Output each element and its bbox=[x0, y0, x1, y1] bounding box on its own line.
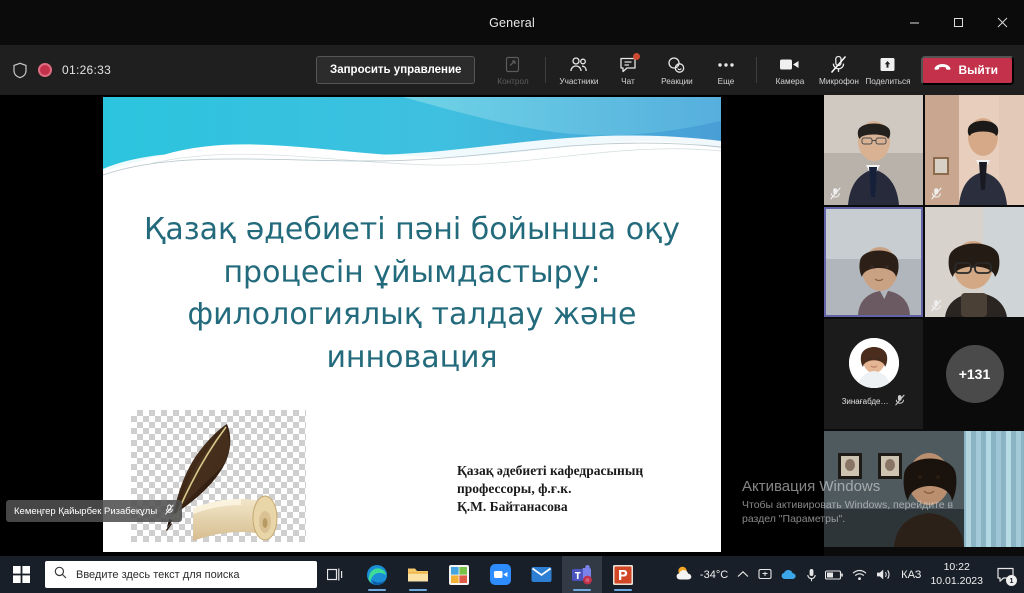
leave-label: Выйти bbox=[958, 63, 998, 77]
mic-muted-icon bbox=[929, 186, 944, 201]
language-indicator[interactable]: КАЗ bbox=[901, 569, 921, 581]
participant-row-3: Зинағабде… +131 bbox=[824, 319, 1024, 429]
start-button[interactable] bbox=[0, 556, 42, 593]
toolbar-device-actions: Камера Микрофон Поделиться Выйти bbox=[749, 52, 1024, 89]
quill-and-scroll-image bbox=[131, 410, 306, 542]
participant-tile-wide[interactable] bbox=[824, 431, 1024, 547]
participant-rail: Зинағабде… +131 bbox=[824, 95, 1024, 556]
onedrive-sync-icon[interactable] bbox=[758, 568, 772, 581]
reactions-icon bbox=[667, 55, 686, 75]
microphone-muted-icon bbox=[165, 504, 174, 518]
meeting-toolbar: 01:26:33 Запросить управление Контрол Уч… bbox=[0, 45, 1024, 95]
cloud-icon[interactable] bbox=[781, 569, 798, 580]
author-line-2: профессоры, ф.ғ.к. bbox=[457, 480, 697, 498]
people-icon bbox=[569, 55, 589, 75]
share-screen-icon bbox=[879, 55, 896, 75]
more-icon bbox=[716, 55, 736, 75]
system-tray: -34°C КАЗ bbox=[675, 556, 1024, 593]
task-view-icon bbox=[327, 567, 344, 582]
toolbar-divider-right bbox=[756, 57, 757, 83]
toolbar-main-actions: Контрол Участники Чат Реакц bbox=[489, 52, 749, 89]
mic-muted-icon bbox=[929, 298, 944, 313]
file-explorer-taskbar-icon[interactable] bbox=[398, 556, 438, 593]
mail-taskbar-icon[interactable] bbox=[521, 556, 561, 593]
microphone-label: Микрофон bbox=[819, 77, 859, 86]
maximize-button[interactable] bbox=[936, 0, 980, 45]
recording-indicator-icon bbox=[38, 63, 52, 77]
reactions-button[interactable]: Реакции bbox=[653, 52, 700, 89]
participant-tile[interactable] bbox=[925, 207, 1024, 317]
toolbar-divider bbox=[545, 57, 546, 83]
chat-button[interactable]: Чат bbox=[604, 52, 651, 89]
chat-unread-badge bbox=[633, 53, 640, 60]
weather-icon bbox=[675, 565, 695, 585]
search-icon bbox=[54, 566, 67, 584]
meeting-timer: 01:26:33 bbox=[62, 63, 111, 77]
teams-taskbar-icon[interactable] bbox=[562, 556, 602, 593]
edge-taskbar-icon[interactable] bbox=[357, 556, 397, 593]
request-control-button[interactable]: Запросить управление bbox=[316, 56, 475, 84]
microphone-muted-icon bbox=[830, 55, 847, 75]
minimize-button[interactable] bbox=[892, 0, 936, 45]
clock-date: 10.01.2023 bbox=[930, 575, 983, 588]
window-title: General bbox=[489, 16, 535, 30]
reactions-label: Реакции bbox=[661, 77, 693, 86]
task-view-button[interactable] bbox=[317, 556, 353, 593]
windows-logo-icon bbox=[13, 566, 30, 583]
overflow-count-badge: +131 bbox=[946, 345, 1004, 403]
author-line-3: Қ.М. Байтанасова bbox=[457, 498, 697, 516]
battery-icon[interactable] bbox=[825, 570, 843, 580]
window-title-bar: General bbox=[0, 0, 1024, 45]
camera-label: Камера bbox=[776, 77, 805, 86]
clock-time: 10:22 bbox=[930, 561, 983, 574]
notification-count-badge: 1 bbox=[1006, 575, 1017, 586]
mic-muted-icon bbox=[828, 186, 843, 201]
presenter-name-chip: Кемеңгер Қайырбек Ризабекұлы bbox=[6, 500, 182, 522]
zoom-taskbar-icon[interactable] bbox=[480, 556, 520, 593]
participant-video-feed bbox=[824, 431, 1024, 547]
slide-banner-wave-decoration bbox=[103, 97, 721, 209]
more-label: Еще bbox=[718, 77, 735, 86]
participant-video-feed bbox=[824, 207, 923, 317]
meeting-status-group: 01:26:33 bbox=[0, 62, 316, 79]
microphone-button[interactable]: Микрофон bbox=[815, 52, 862, 89]
volume-icon[interactable] bbox=[876, 568, 892, 581]
weather-widget[interactable]: -34°C bbox=[675, 565, 728, 585]
mic-muted-icon bbox=[895, 393, 905, 411]
give-control-icon bbox=[504, 55, 521, 75]
share-screen-button[interactable]: Поделиться bbox=[864, 52, 911, 89]
presentation-slide: Қазақ әдебиеті пәні бойынша оқу процесін… bbox=[103, 97, 721, 552]
hangup-icon bbox=[934, 63, 951, 77]
shared-content-stage[interactable]: Қазақ әдебиеті пәні бойынша оқу процесін… bbox=[0, 95, 824, 556]
powerpoint-taskbar-icon[interactable] bbox=[603, 556, 643, 593]
participants-label: Участники bbox=[559, 77, 598, 86]
windows-taskbar: Введите здесь текст для поиска bbox=[0, 556, 1024, 593]
wifi-icon[interactable] bbox=[852, 569, 867, 581]
presenter-name-label: Кемеңгер Қайырбек Ризабекұлы bbox=[14, 506, 157, 517]
participant-row-1 bbox=[824, 95, 1024, 205]
slide-title: Қазақ әдебиеті пәні бойынша оқу процесін… bbox=[131, 209, 693, 379]
microphone-tray-icon[interactable] bbox=[807, 568, 816, 582]
participant-name-label: Зинағабде… bbox=[842, 397, 889, 406]
share-screen-label: Поделиться bbox=[865, 77, 910, 86]
shield-icon bbox=[12, 62, 28, 79]
author-line-1: Қазақ әдебиеті кафедрасының bbox=[457, 462, 697, 480]
avatar-name-row: Зинағабде… bbox=[842, 393, 906, 411]
show-hidden-icons-button[interactable] bbox=[737, 570, 749, 579]
teams-meeting-window: General 01:26:33 Запросить управление bbox=[0, 0, 1024, 593]
taskbar-search-box[interactable]: Введите здесь текст для поиска bbox=[45, 561, 317, 588]
weather-temperature: -34°C bbox=[700, 569, 728, 581]
overflow-participants-tile[interactable]: +131 bbox=[925, 319, 1024, 429]
microsoft-store-taskbar-icon[interactable] bbox=[439, 556, 479, 593]
quill-scroll-illustration bbox=[131, 410, 306, 542]
clock[interactable]: 10:22 10.01.2023 bbox=[930, 561, 983, 588]
window-controls bbox=[892, 0, 1024, 45]
search-placeholder: Введите здесь текст для поиска bbox=[76, 569, 240, 581]
notification-center-button[interactable]: 1 bbox=[992, 556, 1018, 593]
more-options-button[interactable]: Еще bbox=[702, 52, 749, 89]
participant-tile-active-speaker[interactable] bbox=[824, 207, 923, 317]
taskbar-app-buttons bbox=[357, 556, 643, 593]
leave-meeting-button[interactable]: Выйти bbox=[921, 56, 1014, 85]
chat-label: Чат bbox=[621, 77, 635, 86]
camera-icon bbox=[779, 55, 800, 75]
close-button[interactable] bbox=[980, 0, 1024, 45]
give-control-label: Контрол bbox=[497, 77, 528, 86]
avatar bbox=[849, 338, 899, 388]
participant-tile-avatar[interactable]: Зинағабде… bbox=[824, 319, 923, 429]
participant-tile[interactable] bbox=[925, 95, 1024, 205]
give-control-button[interactable]: Контрол bbox=[489, 52, 536, 89]
participant-row-2 bbox=[824, 207, 1024, 317]
participant-tile[interactable] bbox=[824, 95, 923, 205]
slide-author-block: Қазақ әдебиеті кафедрасының профессоры, … bbox=[457, 462, 697, 516]
participants-button[interactable]: Участники bbox=[555, 52, 602, 89]
camera-button[interactable]: Камера bbox=[766, 52, 813, 89]
